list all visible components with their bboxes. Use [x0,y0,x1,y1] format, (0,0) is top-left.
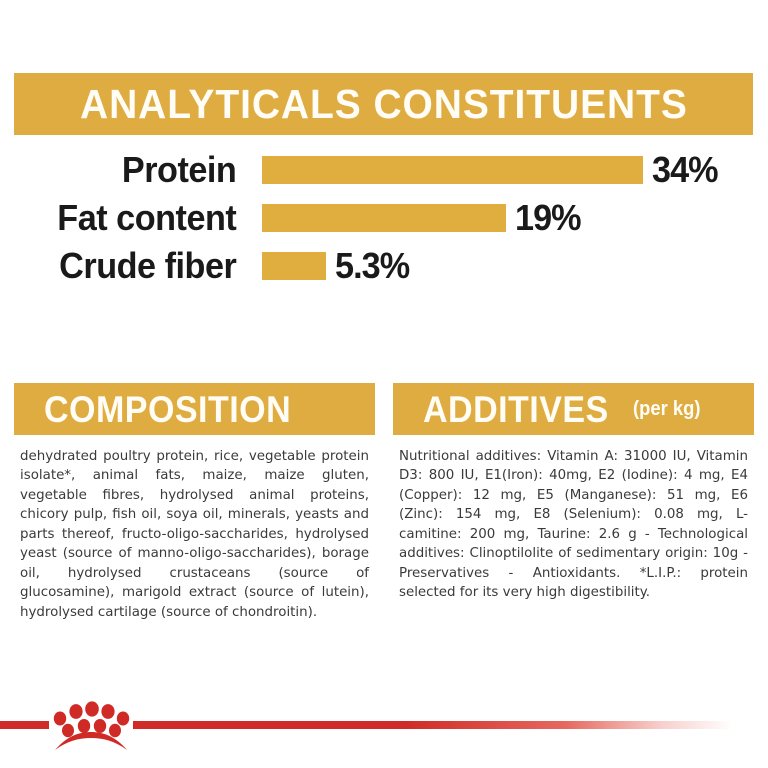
chart-bar-wrap-crude-fiber: 5.3% [262,248,768,284]
analyticals-constituents-header: ANALYTICALS CONSTITUENTS [14,73,753,135]
composition-title: COMPOSITION [44,391,291,428]
additives-subtitle: (per kg) [633,399,700,419]
chart-value-crude-fiber: 5.3% [335,248,409,284]
composition-header: COMPOSITION [14,383,375,435]
chart-label-protein: Protein [13,152,262,188]
analyticals-bar-chart: Protein 34% Fat content 19% Crude fiber … [0,148,768,292]
info-panels: COMPOSITION dehydrated poultry protein, … [0,383,768,622]
additives-title: ADDITIVES [423,391,609,428]
chart-bar-wrap-fat-content: 19% [262,200,768,236]
chart-value-protein: 34% [652,152,718,188]
additives-header: ADDITIVES (per kg) [393,383,754,435]
chart-label-crude-fiber: Crude fiber [13,248,262,284]
chart-bar-protein [262,156,643,184]
chart-bar-crude-fiber [262,252,326,280]
chart-bar-wrap-protein: 34% [262,152,768,188]
chart-label-fat-content: Fat content [13,200,262,236]
composition-panel: COMPOSITION dehydrated poultry protein, … [14,383,375,622]
chart-row-crude-fiber: Crude fiber 5.3% [0,244,768,287]
footer-rule-right [133,721,733,729]
chart-bar-fat-content [262,204,506,232]
chart-value-fat-content: 19% [515,200,581,236]
chart-row-fat-content: Fat content 19% [0,196,768,239]
additives-panel: ADDITIVES (per kg) Nutritional additives… [393,383,754,622]
additives-body-text: Nutritional additives: Vitamin A: 31000 … [393,447,754,603]
footer-rule-left [0,721,49,729]
chart-row-protein: Protein 34% [0,148,768,191]
royal-canin-crown-icon [49,698,133,754]
composition-body-text: dehydrated poultry protein, rice, vegeta… [14,447,375,622]
footer [0,688,768,768]
analyticals-constituents-title: ANALYTICALS CONSTITUENTS [80,84,688,125]
